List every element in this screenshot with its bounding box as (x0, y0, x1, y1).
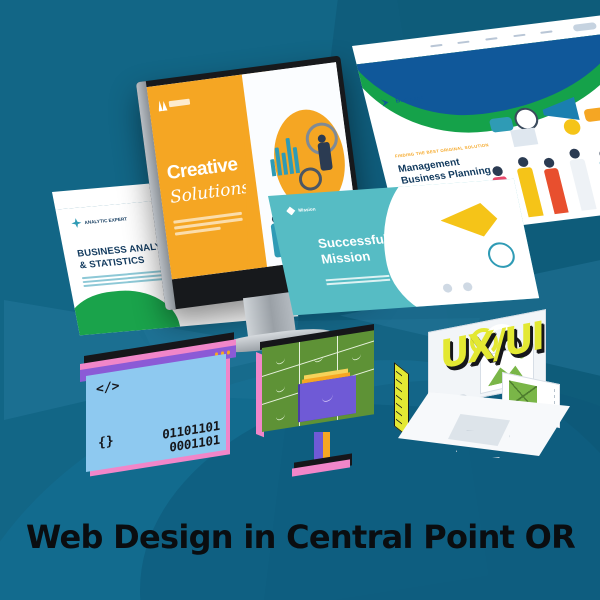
mission-panel[interactable]: Mission Successful Mission (268, 179, 539, 316)
mission-logo-text: Mission (298, 207, 316, 213)
creative-logo (157, 95, 192, 113)
code-window[interactable]: </> {} 01101101 0001101 (84, 356, 234, 476)
mission-heading-line1: Successful (316, 231, 388, 251)
code-tag-icon: </> (96, 379, 119, 398)
arrow-logo-icon (380, 96, 394, 108)
document-icon (510, 128, 538, 147)
analysis-logo-icon (70, 218, 82, 229)
mission-logo: Mission (285, 205, 316, 216)
creative-logo-icon (157, 100, 167, 112)
person-figure (544, 167, 569, 213)
creative-body-text (173, 211, 244, 238)
mission-heading-line2: Mission (320, 248, 372, 266)
filing-cabinet[interactable] (256, 340, 382, 480)
person-figure (569, 158, 597, 210)
mission-heading: Successful Mission (316, 231, 392, 266)
page-title: Web Design in Central Point OR (26, 518, 575, 556)
analysis-paragraph (82, 270, 172, 289)
business-logo-text: Business (395, 95, 425, 104)
analysis-logo: ANALYTIC EXPERT (70, 214, 127, 229)
lightbulb-icon (562, 118, 582, 135)
person-figure (517, 167, 544, 217)
mission-paragraph (326, 275, 392, 287)
bar-chart-graphic (266, 130, 300, 176)
poster-canvas: ANALYTIC EXPERT BUSINESS ANALYSIS & STAT… (0, 0, 600, 600)
creative-logo-text (168, 98, 190, 107)
code-window-face[interactable]: </> {} 01101101 0001101 (86, 354, 226, 472)
binary-text: 01101101 0001101 (162, 419, 220, 456)
mission-logo-icon (285, 206, 296, 215)
code-brace-icon: {} (98, 434, 114, 451)
clock-icon (512, 106, 541, 131)
analysis-logo-text: ANALYTIC EXPERT (84, 216, 127, 225)
mission-white-shape (367, 179, 539, 316)
chat-bubble-icon (583, 108, 600, 123)
uxui-laptop[interactable]: UX/UI (392, 326, 578, 484)
mission-body: Mission Successful Mission (268, 179, 539, 316)
